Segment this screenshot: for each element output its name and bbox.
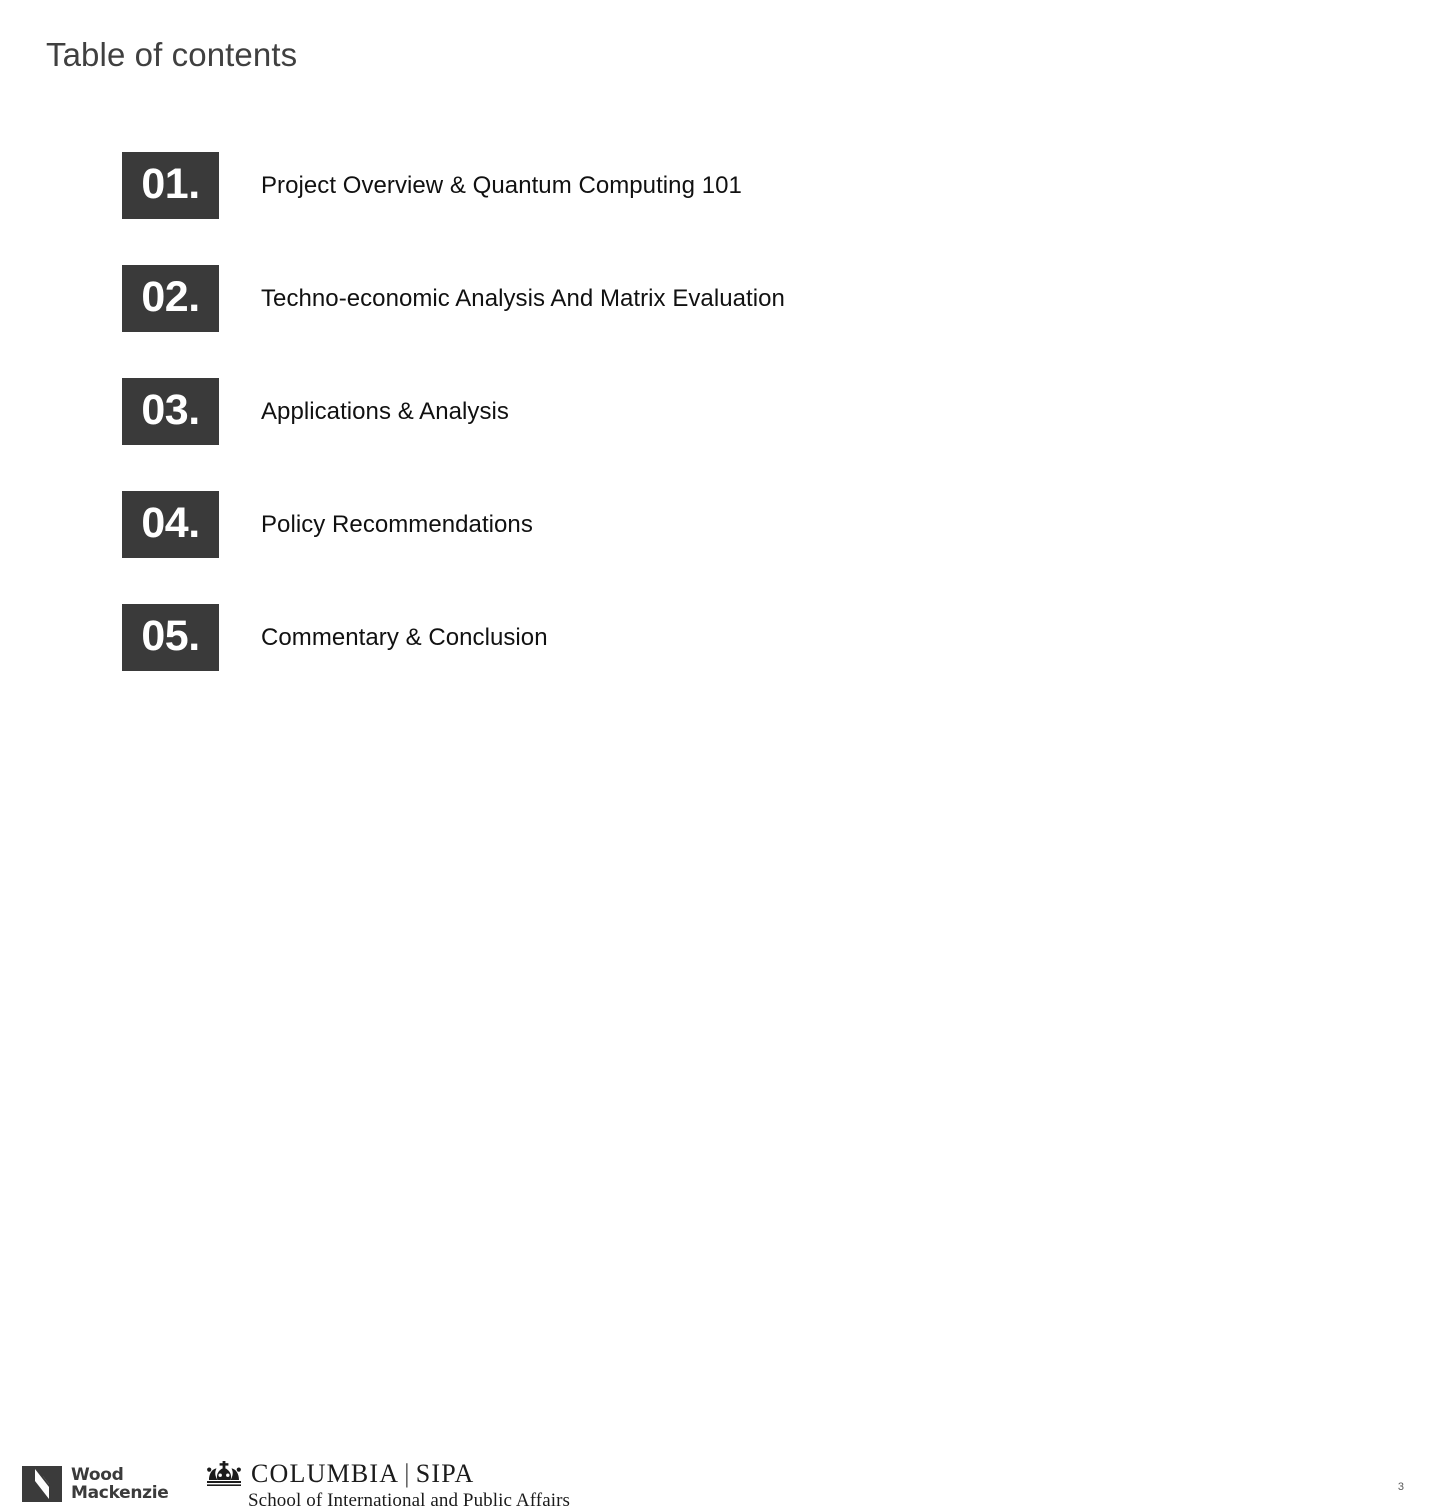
toc-number-badge: 01. <box>122 152 219 219</box>
columbia-sipa-wordmark-row: COLUMBIA|SIPA <box>206 1460 570 1487</box>
page-title: Table of contents <box>46 33 297 77</box>
wood-mackenzie-bowtie-mark <box>22 1466 62 1502</box>
toc-item-label: Applications & Analysis <box>261 397 509 427</box>
toc-number-badge: 04. <box>122 491 219 558</box>
toc-number-label: 04. <box>141 502 199 545</box>
toc-item-01[interactable]: 01. Project Overview & Quantum Computing… <box>122 152 1322 219</box>
table-of-contents-list: 01. Project Overview & Quantum Computing… <box>122 152 1322 671</box>
toc-item-label: Project Overview & Quantum Computing 101 <box>261 171 742 201</box>
columbia-crown-icon <box>206 1461 242 1487</box>
wordmark-separator: | <box>399 1460 415 1487</box>
toc-number-label: 05. <box>141 615 199 658</box>
toc-item-label: Techno-economic Analysis And Matrix Eval… <box>261 284 785 314</box>
columbia-sipa-logo: COLUMBIA|SIPA School of International an… <box>206 1460 570 1512</box>
toc-item-04[interactable]: 04. Policy Recommendations <box>122 491 1322 558</box>
toc-item-label: Policy Recommendations <box>261 510 533 540</box>
toc-number-badge: 05. <box>122 604 219 671</box>
toc-number-badge: 03. <box>122 378 219 445</box>
toc-number-label: 03. <box>141 389 199 432</box>
toc-number-label: 02. <box>141 276 199 319</box>
toc-item-02[interactable]: 02. Techno-economic Analysis And Matrix … <box>122 265 1322 332</box>
wood-mackenzie-logo: Wood Mackenzie <box>22 1466 169 1502</box>
wood-mackenzie-wordmark: Wood Mackenzie <box>71 1466 169 1502</box>
toc-item-label: Commentary & Conclusion <box>261 623 548 653</box>
columbia-sipa-wordmark: COLUMBIA|SIPA <box>251 1460 474 1487</box>
wood-mackenzie-line-1: Wood <box>71 1466 169 1484</box>
toc-number-badge: 02. <box>122 265 219 332</box>
toc-number-label: 01. <box>141 163 199 206</box>
columbia-sipa-tagline: School of International and Public Affai… <box>248 1490 570 1512</box>
toc-item-05[interactable]: 05. Commentary & Conclusion <box>122 604 1322 671</box>
page-number: 3 <box>1398 1480 1404 1494</box>
toc-item-03[interactable]: 03. Applications & Analysis <box>122 378 1322 445</box>
columbia-name: COLUMBIA <box>251 1459 399 1488</box>
slide-footer: Wood Mackenzie <box>0 720 1440 810</box>
slide-canvas: Table of contents 01. Project Overview &… <box>0 0 1440 810</box>
wood-mackenzie-line-2: Mackenzie <box>71 1484 169 1502</box>
sipa-name: SIPA <box>416 1459 475 1488</box>
